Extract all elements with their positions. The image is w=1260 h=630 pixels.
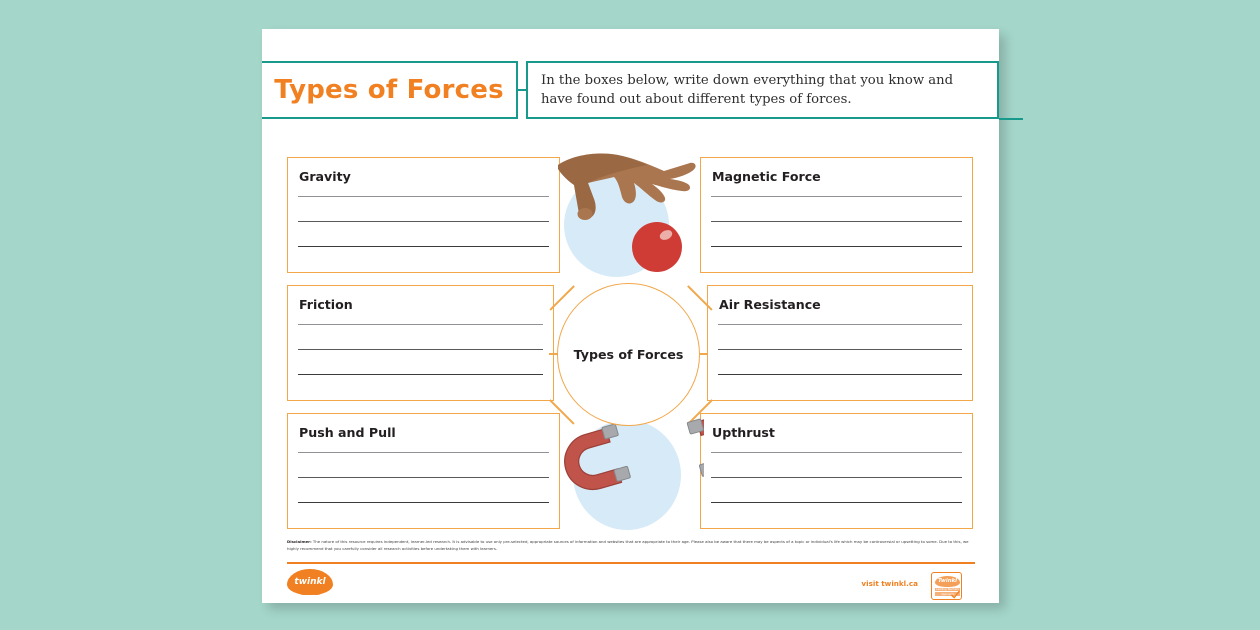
- writing-line[interactable]: [718, 374, 962, 375]
- writing-line[interactable]: [711, 221, 962, 222]
- twinkl-approved-badge[interactable]: Twinkl Leading Teachers Approved: [931, 572, 962, 600]
- writing-lines[interactable]: [298, 324, 543, 399]
- worksheet-page: Types of Forces In the boxes below, writ…: [262, 29, 999, 603]
- writing-lines[interactable]: [298, 196, 549, 271]
- hand-and-ball-svg: [558, 151, 698, 277]
- writing-line[interactable]: [298, 196, 549, 197]
- force-box-label: Friction: [299, 297, 353, 312]
- force-box-label: Push and Pull: [299, 425, 396, 440]
- writing-line[interactable]: [298, 246, 549, 247]
- title-connector-line: [518, 89, 526, 91]
- force-box-label: Magnetic Force: [712, 169, 821, 184]
- writing-line[interactable]: [711, 477, 962, 478]
- twinkl-logo[interactable]: twinkl: [287, 569, 333, 595]
- force-box-label: Gravity: [299, 169, 351, 184]
- mindmap-center-circle: Types of Forces: [557, 283, 700, 426]
- disclaimer-text: Disclaimer: The nature of this resource …: [287, 539, 975, 553]
- writing-line[interactable]: [298, 324, 543, 325]
- writing-line[interactable]: [298, 477, 549, 478]
- writing-lines[interactable]: [298, 452, 549, 527]
- force-box-label: Upthrust: [712, 425, 775, 440]
- force-box-push-and-pull[interactable]: Push and Pull: [287, 413, 560, 529]
- writing-line[interactable]: [711, 502, 962, 503]
- writing-line[interactable]: [718, 324, 962, 325]
- badge-brand: Twinkl: [935, 576, 960, 587]
- force-box-friction[interactable]: Friction: [287, 285, 554, 401]
- force-box-air-resistance[interactable]: Air Resistance: [707, 285, 973, 401]
- writing-line[interactable]: [718, 349, 962, 350]
- writing-lines[interactable]: [718, 324, 962, 399]
- page-title: Types of Forces: [274, 75, 504, 105]
- disclaimer-label: Disclaimer:: [287, 539, 312, 544]
- checkmark-icon: [951, 590, 960, 599]
- disclaimer-body: The nature of this resource requires ind…: [287, 539, 969, 551]
- worksheet-footer: Disclaimer: The nature of this resource …: [262, 539, 999, 603]
- writing-line[interactable]: [298, 452, 549, 453]
- two-horseshoe-magnets-illustration: [556, 415, 704, 533]
- force-box-label: Air Resistance: [719, 297, 821, 312]
- force-box-gravity[interactable]: Gravity: [287, 157, 560, 273]
- writing-line[interactable]: [298, 349, 543, 350]
- hand-dropping-ball-illustration: [558, 151, 698, 277]
- writing-line[interactable]: [711, 246, 962, 247]
- logo-text: twinkl: [287, 569, 333, 595]
- worksheet-title-box: Types of Forces: [262, 61, 518, 119]
- force-box-magnetic-force[interactable]: Magnetic Force: [700, 157, 973, 273]
- writing-line[interactable]: [298, 502, 549, 503]
- footer-divider: [287, 562, 975, 564]
- writing-line[interactable]: [298, 374, 543, 375]
- instructions-text: In the boxes below, write down everythin…: [528, 71, 997, 109]
- magnets-svg: [556, 415, 704, 533]
- writing-line[interactable]: [711, 196, 962, 197]
- writing-line[interactable]: [298, 221, 549, 222]
- screenshot-stage: Types of Forces In the boxes below, writ…: [0, 0, 1260, 630]
- instructions-box: In the boxes below, write down everythin…: [526, 61, 999, 119]
- worksheet-header: Types of Forces In the boxes below, writ…: [262, 61, 999, 119]
- writing-line[interactable]: [711, 452, 962, 453]
- instructions-tail-line: [999, 118, 1023, 120]
- writing-lines[interactable]: [711, 196, 962, 271]
- force-box-upthrust[interactable]: Upthrust: [700, 413, 973, 529]
- mindmap-grid: Gravity Magnetic Force Friction: [262, 131, 999, 531]
- visit-twinkl-link[interactable]: visit twinkl.ca: [861, 579, 918, 588]
- mindmap-center-label: Types of Forces: [574, 347, 684, 362]
- writing-lines[interactable]: [711, 452, 962, 527]
